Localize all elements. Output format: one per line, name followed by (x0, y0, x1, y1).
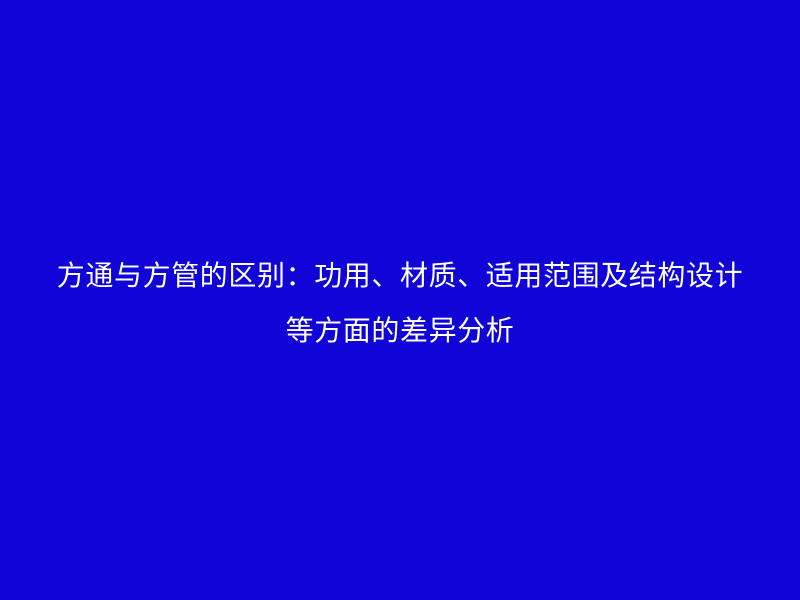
title-block: 方通与方管的区别：功用、材质、适用范围及结构设计等方面的差异分析 (0, 248, 800, 358)
title-slide: 方通与方管的区别：功用、材质、适用范围及结构设计等方面的差异分析 (0, 0, 800, 600)
page-title: 方通与方管的区别：功用、材质、适用范围及结构设计等方面的差异分析 (48, 248, 752, 358)
